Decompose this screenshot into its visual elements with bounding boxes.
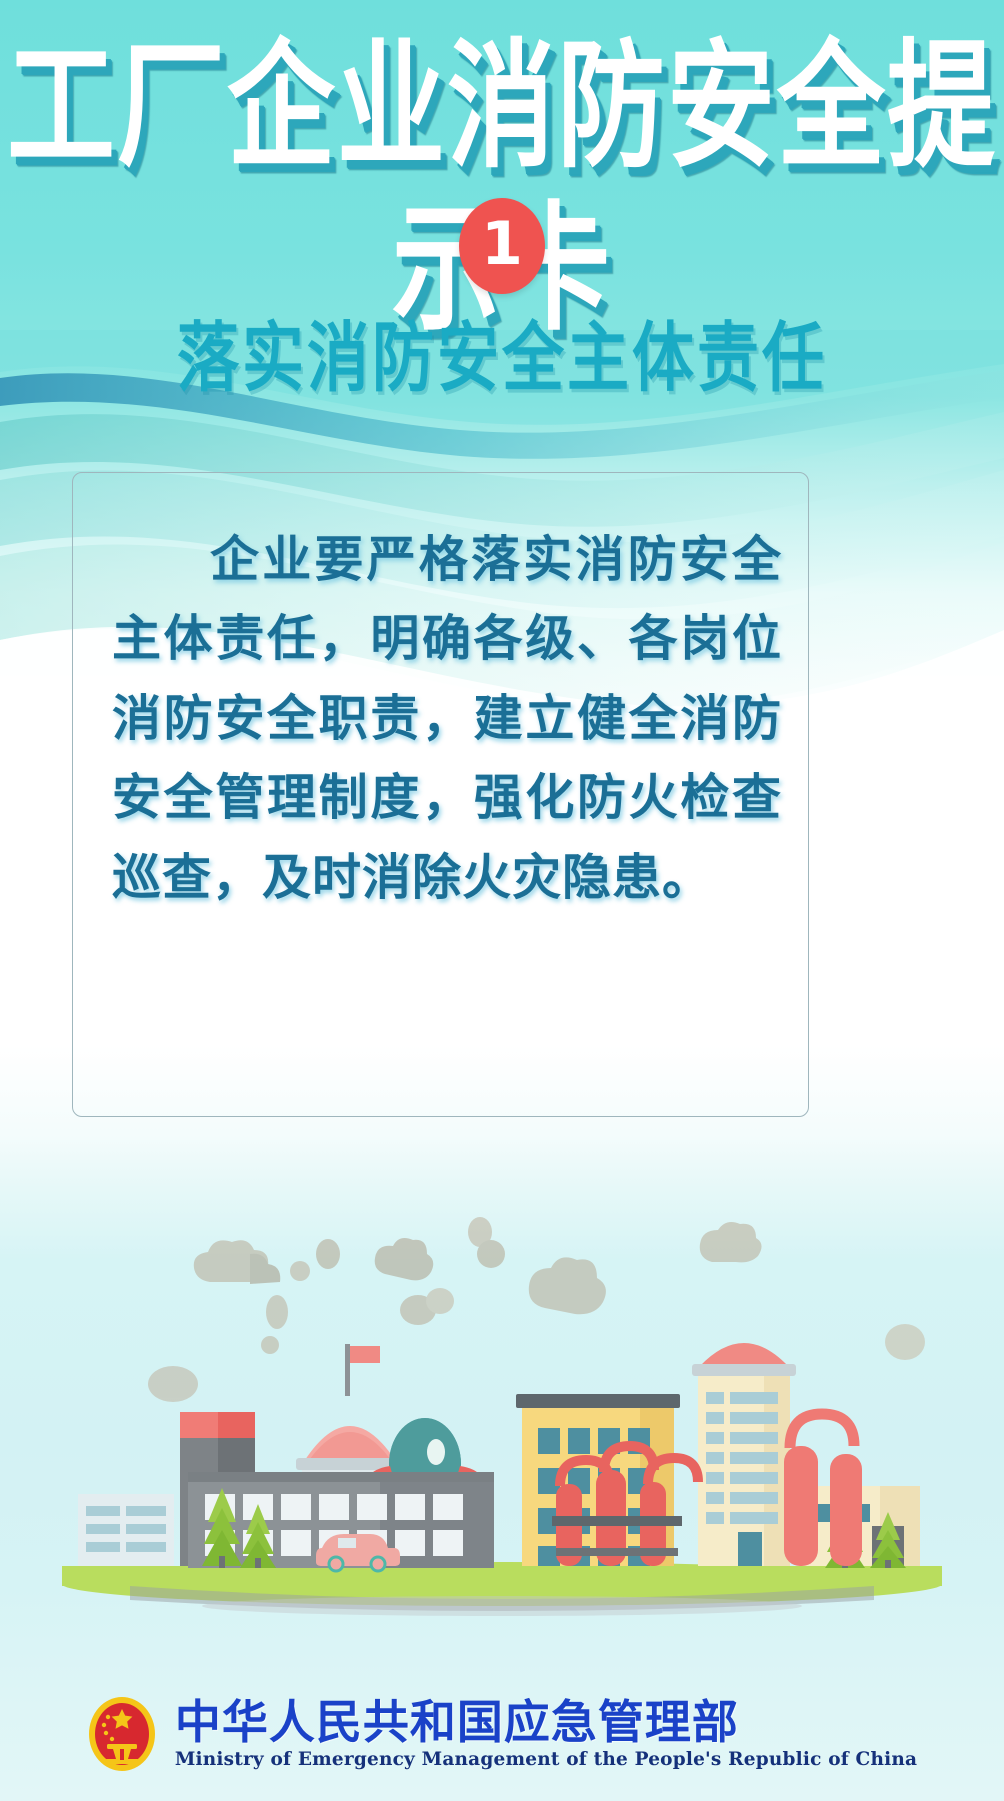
blue-low-building [78,1494,174,1566]
step-number-badge: 1 [459,198,545,294]
ministry-name-en: Ministry of Emergency Management of the … [175,1749,917,1770]
china-national-emblem-icon [87,1695,157,1773]
footer: 中华人民共和国应急管理部 Ministry of Emergency Manag… [0,1695,1004,1773]
factory-industrial-scene-illustration [0,1216,1004,1646]
badge-number-label: 1 [481,214,523,274]
poster-subtitle-container: 落实消防安全主体责任 [0,296,1004,386]
fire-safety-poster: 工厂企业消防安全提示卡 1 落实消防安全主体责任 企业要严格落实消防安全主体责任… [0,0,1004,1801]
smoke-clouds-icon [148,1217,925,1402]
section-subtitle: 落实消防安全主体责任 [177,296,827,406]
cream-apartment-building [692,1343,796,1566]
ministry-text-block: 中华人民共和国应急管理部 Ministry of Emergency Manag… [175,1698,917,1769]
body-text: 企业要严格落实消防安全主体责任，明确各级、各岗位消防安全职责，建立健全消防安全管… [112,520,782,917]
ministry-name-cn: 中华人民共和国应急管理部 [175,1698,917,1746]
